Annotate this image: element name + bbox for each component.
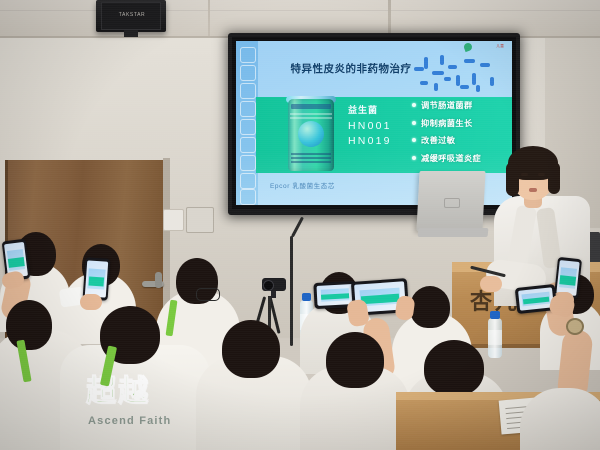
- bullet-text: 抑制病菌生长: [421, 117, 473, 129]
- medical-icon-syringe: [240, 189, 256, 205]
- lecture-room-photo: TAKSTAR 特异性皮炎的非药物治疗: [0, 0, 600, 450]
- tripod-head: [271, 290, 276, 298]
- product-name-block: 益生菌 HN001 HN019: [348, 103, 392, 149]
- product-name-cn: 益生菌: [348, 103, 392, 116]
- can-stripe: [290, 113, 332, 115]
- slide-title: 特异性皮炎的非药物治疗: [276, 61, 426, 76]
- product-can-text-block: [291, 153, 331, 165]
- product-code-1: HN001: [348, 119, 392, 134]
- bullet-dot-icon: [412, 156, 416, 160]
- attendee-head: [410, 286, 450, 328]
- medical-icon-flask: [240, 47, 256, 63]
- presenter-eye: [521, 173, 528, 176]
- bullet-item: 抑制病菌生长: [412, 117, 508, 129]
- attendee-head: [326, 332, 384, 388]
- phone-screen: [556, 260, 579, 296]
- bullet-item: 减缓呼吸道炎症: [412, 152, 508, 164]
- slide-logo-text: 儿童: [496, 44, 504, 49]
- bullet-text: 调节肠道菌群: [421, 99, 473, 111]
- slide-decorative-graphic: [410, 49, 506, 93]
- laptop-keyboard[interactable]: [418, 228, 489, 237]
- bottle-cap: [302, 293, 311, 301]
- light-switch[interactable]: [163, 209, 184, 231]
- medical-icon-heart: [240, 119, 256, 135]
- bullet-item: 调节肠道菌群: [412, 99, 508, 111]
- product-can-graphic: [298, 121, 324, 147]
- presenter-mouth: [529, 188, 537, 192]
- tshirt-print-en: Ascend Faith: [88, 415, 208, 427]
- slide-footer-brand: Epcor 乳酸菌生态芯: [270, 180, 335, 190]
- wristwatch: [566, 318, 584, 335]
- laptop-logo: [444, 198, 460, 208]
- phone-screen: [85, 260, 108, 297]
- bullet-item: 改善过敏: [412, 134, 508, 146]
- presenter-hair-side: [548, 162, 560, 194]
- product-can-brand-label: [291, 104, 331, 109]
- medical-icon-dropper: [240, 83, 256, 99]
- slide-bullet-list: 调节肠道菌群 抑制病菌生长 改善过敏 减缓呼吸道炎症: [412, 99, 508, 169]
- bullet-dot-icon: [412, 138, 416, 142]
- presenter-hair-side: [506, 162, 519, 196]
- presenter-eye: [538, 173, 545, 176]
- ac-control-panel[interactable]: [186, 207, 214, 233]
- medical-icon-mortar: [240, 65, 256, 81]
- door-lock[interactable]: [155, 272, 162, 288]
- attendee-head: [222, 320, 280, 378]
- medical-icon-stethoscope: [240, 137, 256, 153]
- slide-icon-rail: [236, 41, 258, 205]
- ceiling-panel-seam: [0, 10, 600, 11]
- bullet-dot-icon: [412, 103, 416, 107]
- bullet-text: 减缓呼吸道炎症: [421, 152, 481, 164]
- attendee-head: [424, 340, 484, 396]
- attendee-head: [6, 300, 52, 350]
- medical-icon-pill: [240, 155, 256, 171]
- camera-lens-icon: [263, 280, 274, 291]
- medical-icon-shield: [240, 173, 256, 189]
- presenter-hand: [480, 276, 502, 292]
- product-code-2: HN019: [348, 134, 392, 149]
- medical-icon-clipboard: [240, 101, 256, 117]
- speaker-brand-label: TAKSTAR: [112, 11, 152, 19]
- attendee-hand: [80, 294, 102, 310]
- bottle-label: [488, 330, 502, 345]
- bullet-dot-icon: [412, 121, 416, 125]
- eyeglasses: [196, 288, 220, 301]
- ceiling-seam-left: [208, 0, 210, 38]
- speaker-mount: [124, 30, 138, 37]
- can-stripe: [290, 117, 332, 119]
- bottle-cap: [490, 311, 500, 319]
- hanging-cable: [290, 236, 293, 346]
- bullet-text: 改善过敏: [421, 134, 455, 146]
